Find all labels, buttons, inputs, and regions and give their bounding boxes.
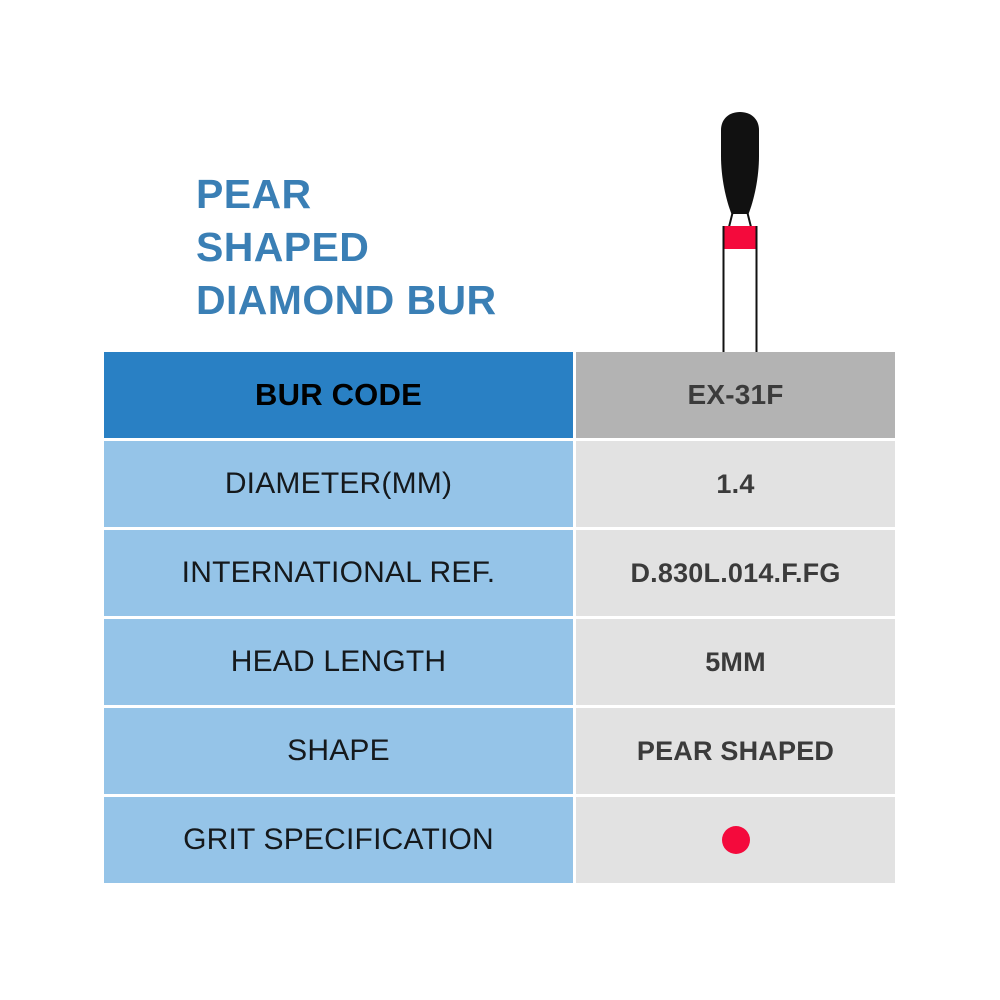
bur-illustration [688, 108, 792, 356]
product-spec-card: PEAR SHAPED DIAMOND BUR BUR CODE EX-31F … [0, 0, 1000, 1000]
row-label-head-length: HEAD LENGTH [104, 619, 573, 705]
header-value-cell: EX-31F [576, 352, 895, 438]
table-row-international-ref: INTERNATIONAL REF. D.830L.014.F.FG [104, 530, 895, 616]
page-title: PEAR SHAPED DIAMOND BUR [196, 168, 616, 327]
row-label-diameter: DIAMETER(MM) [104, 441, 573, 527]
table-row-shape: SHAPE PEAR SHAPED [104, 708, 895, 794]
page-title-line-1: PEAR [196, 168, 616, 221]
table-row-diameter: DIAMETER(MM) 1.4 [104, 441, 895, 527]
table-header-row: BUR CODE EX-31F [104, 352, 895, 438]
grit-red-dot-icon [722, 826, 750, 854]
row-value-diameter: 1.4 [576, 441, 895, 527]
table-row-grit-specification: GRIT SPECIFICATION [104, 797, 895, 883]
bur-shank-shape [724, 239, 757, 356]
row-label-international-ref: INTERNATIONAL REF. [104, 530, 573, 616]
row-label-grit-specification: GRIT SPECIFICATION [104, 797, 573, 883]
page-title-line-3: DIAMOND BUR [196, 274, 616, 327]
row-value-international-ref: D.830L.014.F.FG [576, 530, 895, 616]
specification-table: BUR CODE EX-31F DIAMETER(MM) 1.4 INTERNA… [104, 352, 895, 883]
row-value-shape: PEAR SHAPED [576, 708, 895, 794]
row-value-head-length: 5MM [576, 619, 895, 705]
page-title-line-2: SHAPED [196, 221, 616, 274]
header-label-cell: BUR CODE [104, 352, 573, 438]
row-value-grit-specification [576, 797, 895, 883]
table-row-head-length: HEAD LENGTH 5MM [104, 619, 895, 705]
bur-head-shape [721, 112, 759, 214]
bur-grit-band-shape [724, 226, 757, 249]
row-label-shape: SHAPE [104, 708, 573, 794]
